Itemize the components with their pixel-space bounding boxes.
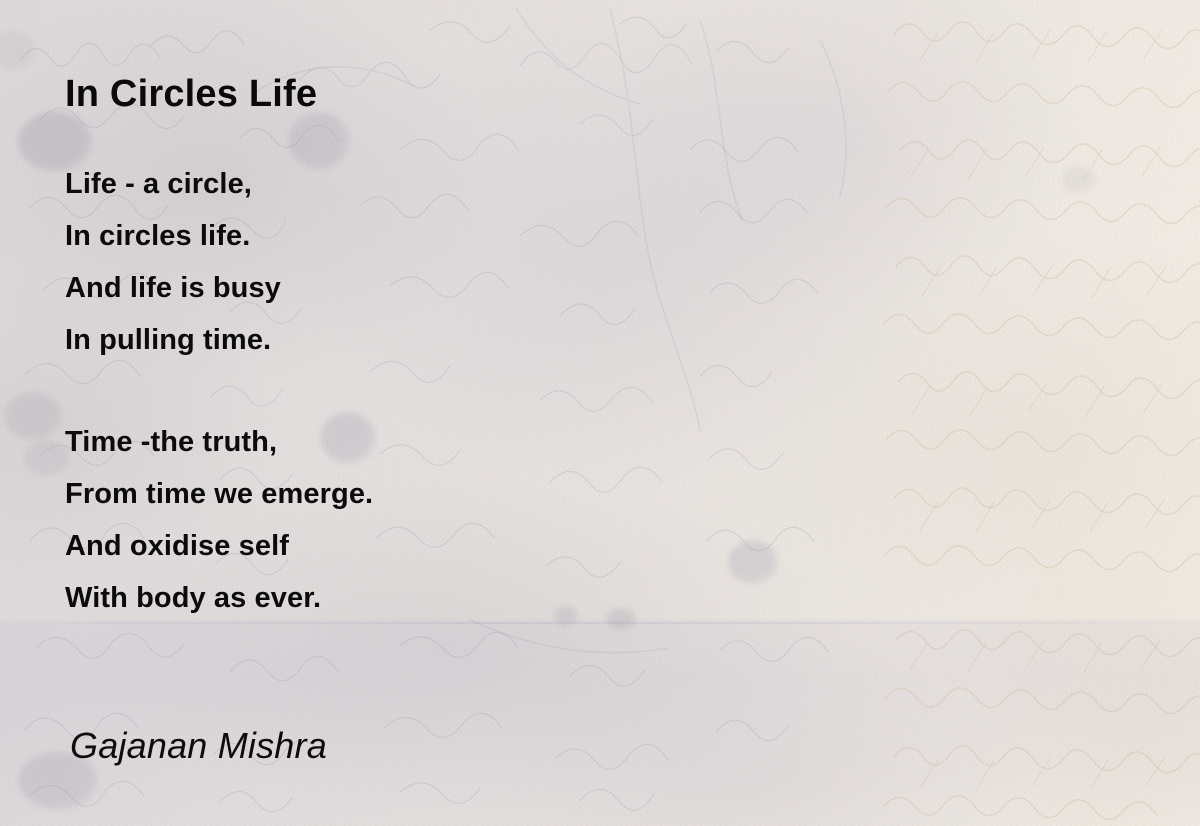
blot-left-mid-2 (24, 440, 70, 476)
poem-line: In circles life. (65, 210, 705, 262)
blot-right-upper (1062, 166, 1096, 194)
paper-grain-layer (0, 0, 1200, 826)
poem-line: With body as ever. (65, 572, 705, 624)
paper-base-layer (0, 0, 1200, 826)
poem-line: From time we emerge. (65, 468, 705, 520)
ghost-script-cool (0, 0, 860, 826)
poem-canvas: In Circles Life Life - a circle, In circ… (0, 0, 1200, 826)
blot-center-right (728, 540, 778, 584)
poem-line: Life - a circle, (65, 158, 705, 210)
blot-left-mid (4, 392, 62, 440)
poem-stanza-2: Time -the truth, From time we emerge. An… (65, 416, 705, 624)
blot-far-left-top (0, 30, 36, 70)
ghost-script-warm (880, 0, 1200, 826)
poem-author-signature: Gajanan Mishra (70, 725, 327, 767)
poem-line: And oxidise self (65, 520, 705, 572)
page-title: In Circles Life (65, 75, 317, 115)
poem-line: And life is busy (65, 262, 705, 314)
poem-line: Time -the truth, (65, 416, 705, 468)
ink-blot-field (0, 0, 1200, 826)
poem-line: In pulling time. (65, 314, 705, 366)
paper-stain-layer (0, 0, 1200, 826)
poem-stanza-1: Life - a circle, In circles life. And li… (65, 158, 705, 366)
paper-wash-band (0, 0, 1200, 826)
